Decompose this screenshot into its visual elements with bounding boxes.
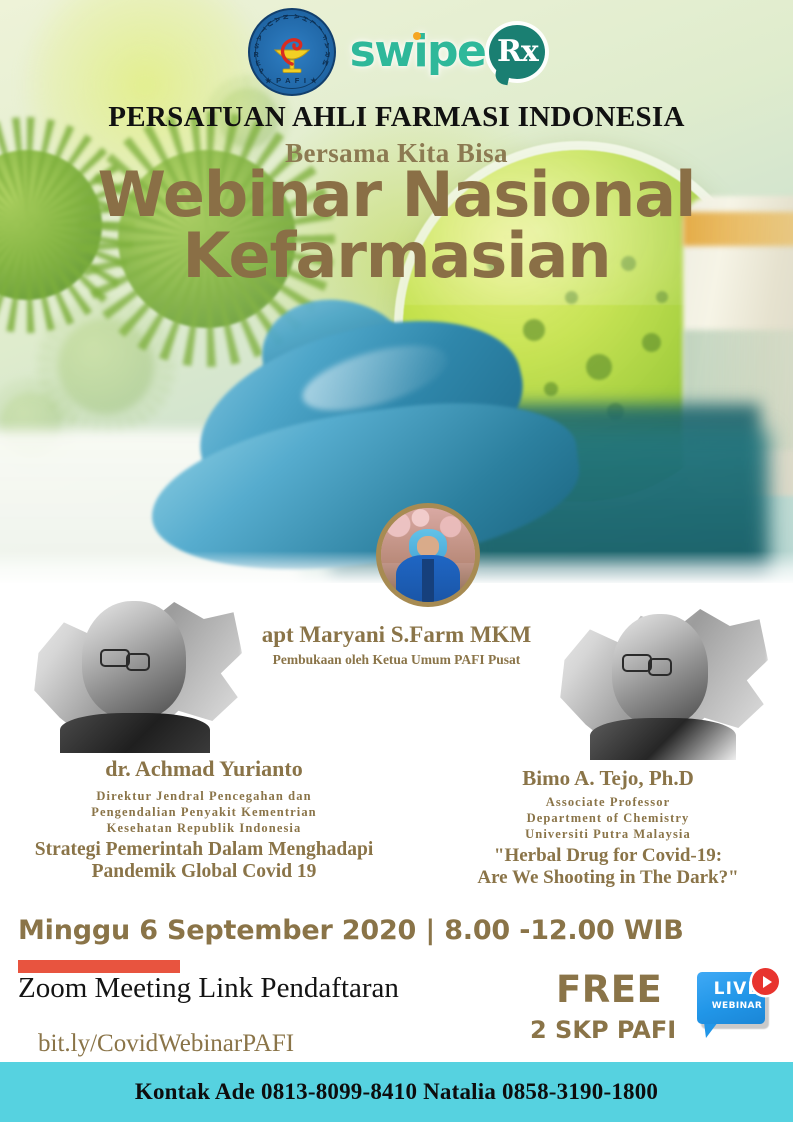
event-date-time: Minggu 6 September 2020 | 8.00 -12.00 WI… (18, 915, 684, 946)
avatar-maryani (376, 503, 480, 607)
swiperx-logo: swipe Rx (350, 25, 546, 79)
speaker-name-right: Bimo A. Tejo, Ph.D (418, 766, 793, 791)
rx-speech-bubble-icon: Rx (489, 25, 545, 79)
credits-label: 2 SKP PAFI (530, 1016, 676, 1044)
glasses-icon (622, 654, 652, 672)
bowl-of-hygieia-icon (269, 34, 315, 74)
contact-footer: Kontak Ade 0813-8099-8410 Natalia 0858-3… (0, 1062, 793, 1122)
play-button-icon (752, 968, 779, 995)
speaker-topic-left-line-2: Pandemik Global Covid 19 (0, 861, 414, 883)
title-line-1: Webinar Nasional (0, 165, 793, 226)
webinar-label: WEBINAR (697, 1001, 777, 1011)
speaker-role-right-line-3: Universiti Putra Malaysia (418, 826, 793, 842)
contact-text: Kontak Ade 0813-8099-8410 Natalia 0858-3… (135, 1079, 658, 1105)
portrait-shoulders (60, 713, 210, 753)
registration-link[interactable]: bit.ly/CovidWebinarPAFI (38, 1030, 294, 1058)
swipe-dot-icon (413, 32, 421, 40)
organization-title: PERSATUAN AHLI FARMASI INDONESIA (0, 101, 793, 134)
speaker-role-left-line-1: Direktur Jendral Pencegahan dan (0, 788, 414, 804)
speaker-topic-right-line-1: "Herbal Drug for Covid-19: (418, 845, 793, 867)
page-title: Webinar Nasional Kefarmasian (0, 165, 793, 287)
speaker-topic-right-line-2: Are We Shooting in The Dark?" (418, 867, 793, 889)
swipe-wordmark: swipe (350, 30, 486, 74)
portrait-shoulders (590, 718, 736, 760)
title-line-2: Kefarmasian (0, 226, 793, 287)
speaker-block-right: Bimo A. Tejo, Ph.D Associate Professor D… (418, 766, 793, 889)
live-webinar-badge: LIVE WEBINAR (697, 972, 777, 1044)
price-label: FREE (556, 968, 662, 1011)
speaker-role-left: Direktur Jendral Pencegahan dan Pengenda… (0, 788, 414, 836)
avatar-bimo-tejo (556, 592, 768, 762)
speaker-role-left-line-2: Pengendalian Penyakit Kementrian (0, 804, 414, 820)
speaker-topic-right: "Herbal Drug for Covid-19: Are We Shooti… (418, 845, 793, 889)
speaker-role-right-line-1: Associate Professor (418, 794, 793, 810)
event-platform-line: Zoom Meeting Link Pendaftaran (18, 972, 399, 1005)
glasses-icon (100, 649, 130, 667)
speaker-name-left: dr. Achmad Yurianto (0, 756, 414, 782)
virus-particle-icon (58, 318, 154, 414)
logo-row: P E R S A T U A N A H L I F A R M (0, 6, 793, 98)
webinar-poster: P E R S A T U A N A H L I F A R M (0, 0, 793, 1122)
speaker-topic-left-line-1: Strategi Pemerintah Dalam Menghadapi (0, 839, 414, 861)
rx-text: Rx (497, 37, 538, 67)
speaker-role-left-line-3: Kesehatan Republik Indonesia (0, 820, 414, 836)
pafi-logo-icon: P E R S A T U A N A H L I F A R M (248, 8, 336, 96)
speaker-role-right: Associate Professor Department of Chemis… (418, 794, 793, 842)
speaker-topic-left: Strategi Pemerintah Dalam Menghadapi Pan… (0, 839, 414, 884)
speaker-role-right-line-2: Department of Chemistry (418, 810, 793, 826)
speaker-block-left: dr. Achmad Yurianto Direktur Jendral Pen… (0, 756, 414, 884)
pafi-bottom-label: ★ P A F I ★ (250, 76, 334, 85)
avatar-achmad-yurianto (30, 585, 242, 755)
